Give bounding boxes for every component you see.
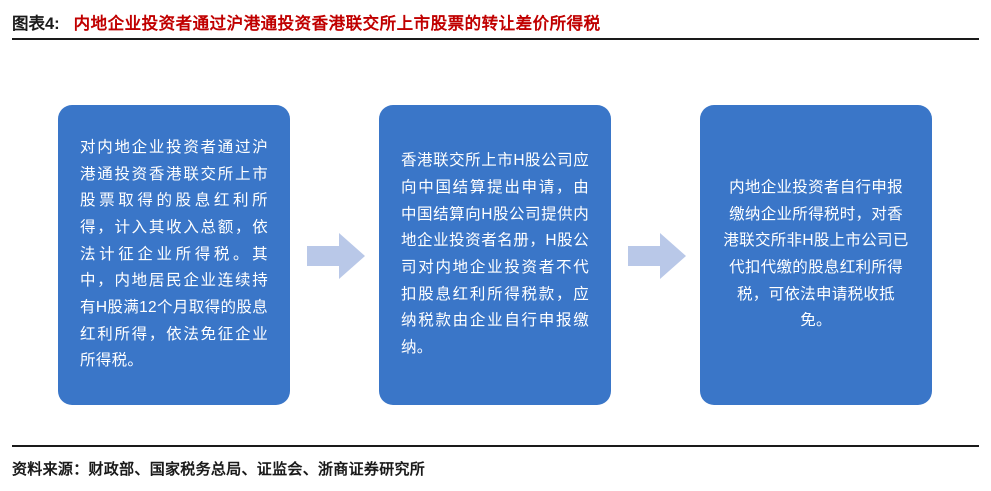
flow-box-1-text: 对内地企业投资者通过沪港通投资香港联交所上市股票取得的股息红利所得，计入其收入总… xyxy=(80,135,268,375)
source-note: 资料来源：财政部、国家税务总局、证监会、浙商证券研究所 xyxy=(12,458,425,479)
flow-box-3-text: 内地企业投资者自行申报缴纳企业所得税时，对香港联交所非H股上市公司已代扣代缴的股… xyxy=(722,175,910,335)
footer-divider xyxy=(12,445,979,447)
page-title: 内地企业投资者通过沪港通投资香港联交所上市股票的转让差价所得税 xyxy=(74,10,601,34)
flow-diagram: 对内地企业投资者通过沪港通投资香港联交所上市股票取得的股息红利所得，计入其收入总… xyxy=(0,48,991,438)
flow-box-2: 香港联交所上市H股公司应向中国结算提出申请，由中国结算向H股公司提供内地企业投资… xyxy=(379,105,611,405)
figure-page: 图表4: 内地企业投资者通过沪港通投资香港联交所上市股票的转让差价所得税 对内地… xyxy=(0,0,991,491)
figure-header: 图表4: 内地企业投资者通过沪港通投资香港联交所上市股票的转让差价所得税 xyxy=(12,10,979,34)
flow-box-2-text: 香港联交所上市H股公司应向中国结算提出申请，由中国结算向H股公司提供内地企业投资… xyxy=(401,148,589,361)
header-divider xyxy=(12,38,979,40)
flow-box-1: 对内地企业投资者通过沪港通投资香港联交所上市股票取得的股息红利所得，计入其收入总… xyxy=(58,105,290,405)
flow-box-3: 内地企业投资者自行申报缴纳企业所得税时，对香港联交所非H股上市公司已代扣代缴的股… xyxy=(700,105,932,405)
figure-label: 图表4: xyxy=(12,10,60,34)
arrow-right-icon-2 xyxy=(628,233,686,279)
arrow-right-icon-1 xyxy=(307,233,365,279)
